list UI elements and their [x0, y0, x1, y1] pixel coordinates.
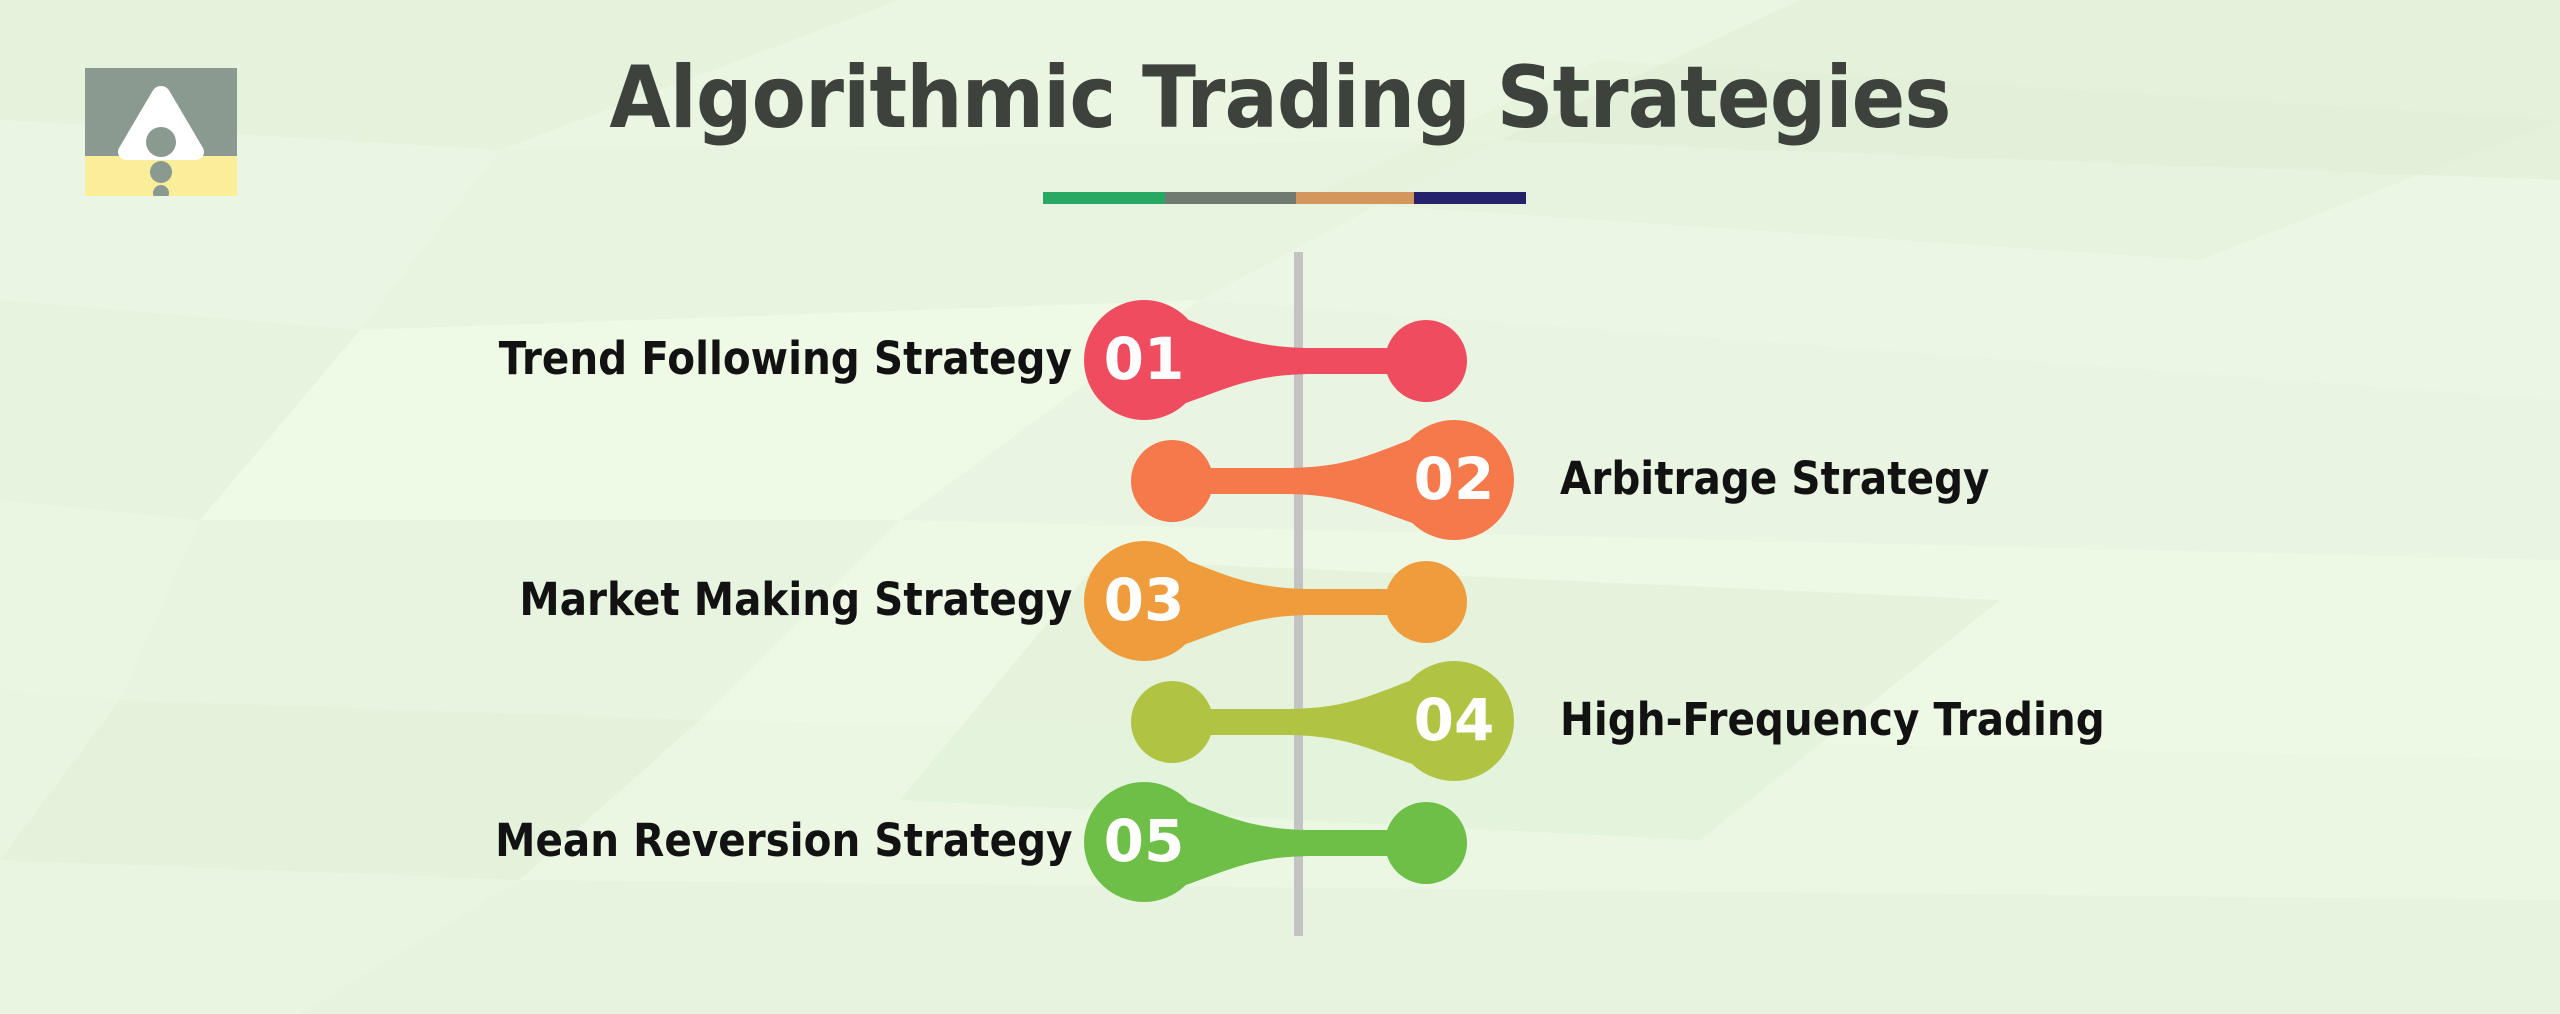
node-number: 04 — [1394, 661, 1514, 781]
timeline-node[interactable]: 04High-Frequency Trading — [0, 661, 2560, 781]
accent-rule-segment-4 — [1414, 192, 1526, 204]
timeline-node[interactable]: 01Trend Following Strategy — [0, 300, 2560, 420]
node-label: Arbitrage Strategy — [1560, 420, 1989, 540]
timeline-node[interactable]: 03Market Making Strategy — [0, 541, 2560, 661]
accent-rule-segment-1 — [1043, 192, 1165, 204]
node-number: 05 — [1084, 782, 1204, 902]
node-label: Trend Following Strategy — [499, 300, 1072, 420]
timeline-node[interactable]: 02Arbitrage Strategy — [0, 420, 2560, 540]
node-label: Mean Reversion Strategy — [495, 782, 1072, 902]
timeline-node[interactable]: 05Mean Reversion Strategy — [0, 782, 2560, 902]
node-label: Market Making Strategy — [519, 541, 1072, 661]
accent-rule-segment-2 — [1165, 192, 1296, 204]
accent-rule-segment-3 — [1296, 192, 1414, 204]
node-number: 01 — [1084, 300, 1204, 420]
page-title: Algorithmic Trading Strategies — [102, 48, 2457, 148]
node-number: 02 — [1394, 420, 1514, 540]
node-number: 03 — [1084, 541, 1204, 661]
accent-rule — [1043, 192, 1526, 204]
node-label: High-Frequency Trading — [1560, 661, 2105, 781]
slide-canvas: Algorithmic Trading Strategies 01Trend F… — [0, 0, 2560, 1014]
